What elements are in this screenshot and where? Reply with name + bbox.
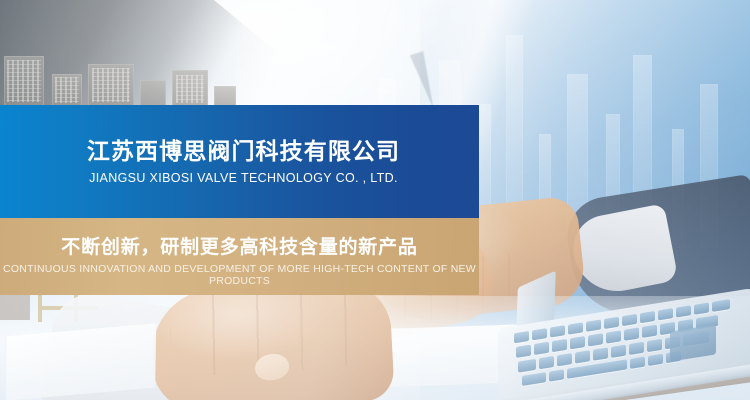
slogan-band: 不断创新，研制更多高科技含量的新产品 CONTINUOUS INNOVATION… <box>0 218 479 295</box>
company-name-cn: 江苏西博思阀门科技有限公司 <box>0 132 479 166</box>
slogan-cn: 不断创新，研制更多高科技含量的新产品 <box>0 232 479 259</box>
company-name-en: JIANGSU XIBOSI VALVE TECHNOLOGY CO. , LT… <box>0 171 479 185</box>
company-name-band: 江苏西博思阀门科技有限公司 JIANGSU XIBOSI VALVE TECHN… <box>0 105 479 218</box>
company-banner: 江苏西博思阀门科技有限公司 JIANGSU XIBOSI VALVE TECHN… <box>0 0 750 400</box>
slogan-en: CONTINUOUS INNOVATION AND DEVELOPMENT OF… <box>0 263 479 287</box>
